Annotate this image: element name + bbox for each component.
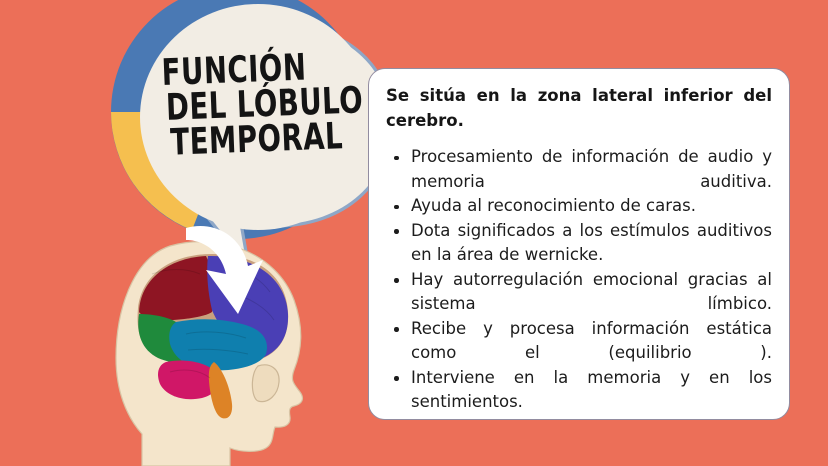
list-item: Procesamiento de información de audio y …	[386, 145, 772, 194]
list-item: Dota significados a los estímulos auditi…	[386, 219, 772, 268]
card-heading: Se sitúa en la zona lateral inferior del…	[386, 83, 772, 133]
list-item: Interviene en la memoria y en los sentim…	[386, 366, 772, 415]
title-line-3: TEMPORAL	[170, 115, 355, 165]
list-item: Ayuda al reconocimiento de caras.	[386, 194, 772, 219]
list-item: Recibe y procesa información estática co…	[386, 317, 772, 366]
info-card: Se sitúa en la zona lateral inferior del…	[368, 68, 790, 420]
bullet-list: Procesamiento de información de audio y …	[386, 145, 772, 415]
white-curved-arrow-icon	[168, 222, 288, 326]
list-item: Hay autorregulación emocional gracias al…	[386, 268, 772, 317]
page-title: FUNCIÓN DEL LÓBULO TEMPORAL	[161, 48, 370, 161]
slide-canvas: FUNCIÓN DEL LÓBULO TEMPORAL	[0, 0, 828, 466]
